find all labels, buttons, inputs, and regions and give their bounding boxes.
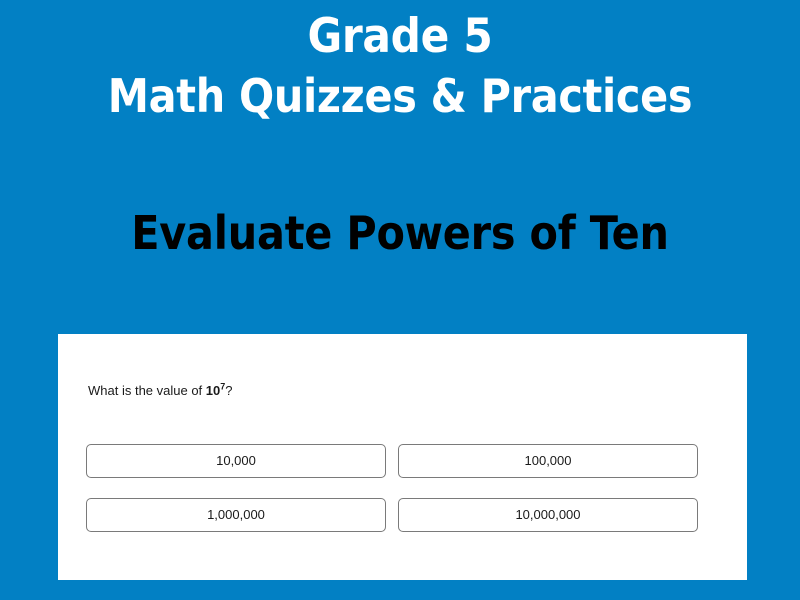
- quiz-card: What is the value of 107? 10,000 100,000…: [58, 334, 747, 580]
- title-line-subject: Math Quizzes & Practices: [0, 66, 800, 126]
- answer-option-2[interactable]: 100,000: [398, 444, 698, 478]
- question-suffix: ?: [225, 383, 232, 398]
- question-base: 10: [206, 383, 220, 398]
- header-block: Grade 5 Math Quizzes & Practices: [0, 8, 800, 126]
- question-text: What is the value of 107?: [88, 383, 233, 399]
- question-prefix: What is the value of: [88, 383, 206, 398]
- answer-option-1[interactable]: 10,000: [86, 444, 386, 478]
- slide-canvas: Grade 5 Math Quizzes & Practices Evaluat…: [0, 0, 800, 600]
- answer-option-4[interactable]: 10,000,000: [398, 498, 698, 532]
- lesson-subtitle: Evaluate Powers of Ten: [0, 204, 800, 262]
- answer-option-3[interactable]: 1,000,000: [86, 498, 386, 532]
- title-line-grade: Grade 5: [0, 8, 800, 66]
- answer-options-grid: 10,000 100,000 1,000,000 10,000,000: [86, 444, 726, 532]
